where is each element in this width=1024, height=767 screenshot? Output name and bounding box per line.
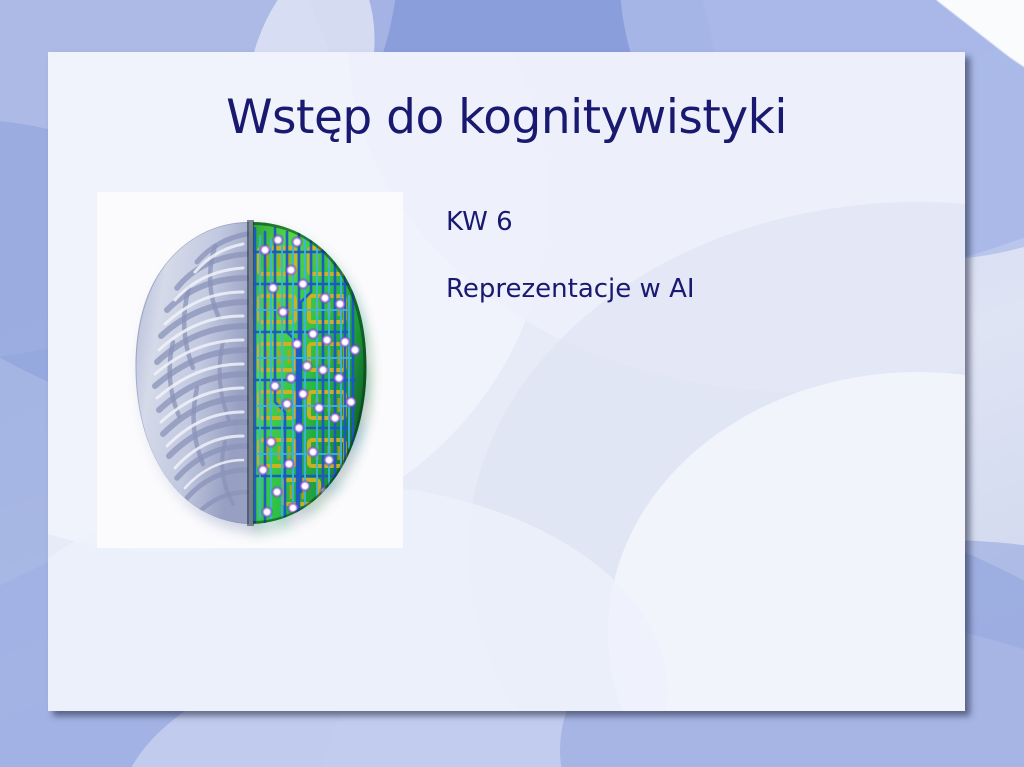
slide-title: Wstęp do kognitywistyki <box>48 90 965 145</box>
brain-circuit-illustration <box>97 192 403 548</box>
slide-subtitle-block: KW 6 Reprezentacje w AI <box>446 207 926 305</box>
brain-circuit-image <box>97 192 403 548</box>
hemisphere-divider <box>247 220 254 526</box>
slide-content-panel: Wstęp do kognitywistyki <box>48 52 965 711</box>
panel-curve-shape <box>608 372 965 711</box>
brain-body <box>134 220 369 526</box>
subtitle-line-topic: Reprezentacje w AI <box>446 274 926 305</box>
presentation-slide: Wstęp do kognitywistyki <box>0 0 1024 767</box>
subtitle-line-course-code: KW 6 <box>446 207 926 238</box>
